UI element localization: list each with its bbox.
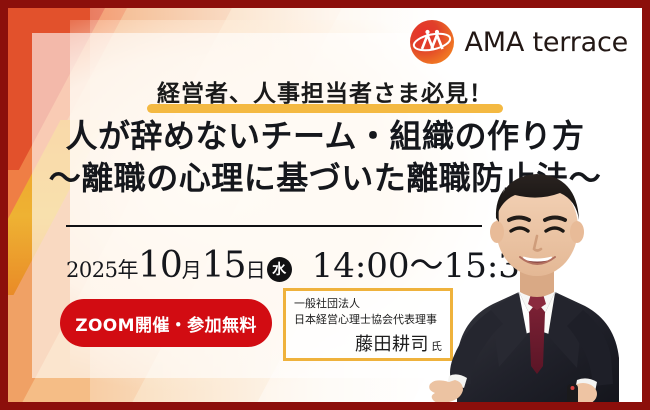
speaker-name-row: 藤田耕司氏 — [294, 330, 442, 356]
speaker-name: 藤田耕司 — [355, 334, 429, 355]
brand-logo-text: AMA terrace — [464, 27, 628, 58]
tagline: 経営者、人事担当者さま必見！ — [0, 74, 650, 111]
zoom-free-cta-label: ZOOM開催・参加無料 — [75, 311, 257, 336]
schedule-year: 2025年 — [66, 254, 138, 284]
speaker-org-line-1: 一般社団法人 — [294, 296, 442, 312]
ama-terrace-logo-mark — [410, 20, 454, 64]
seminar-banner: AMA terrace 経営者、人事担当者さま必見！ 人が辞めないチーム・組織の… — [0, 0, 650, 410]
schedule-month-number: 10 — [138, 245, 182, 286]
divider — [66, 225, 482, 227]
tagline-text: 経営者、人事担当者さま必見！ — [151, 74, 499, 111]
schedule-day-number: 15 — [202, 245, 246, 286]
schedule-day-unit: 日 — [246, 254, 266, 283]
schedule-weekday-badge: 水 — [267, 257, 292, 282]
brand-logo[interactable]: AMA terrace — [410, 20, 628, 64]
speaker-photo — [427, 152, 642, 402]
speaker-org-line-2: 日本経営心理士協会代表理事 — [294, 312, 442, 328]
zoom-free-cta-button[interactable]: ZOOM開催・参加無料 — [60, 299, 272, 347]
schedule-month-unit: 月 — [182, 254, 202, 283]
